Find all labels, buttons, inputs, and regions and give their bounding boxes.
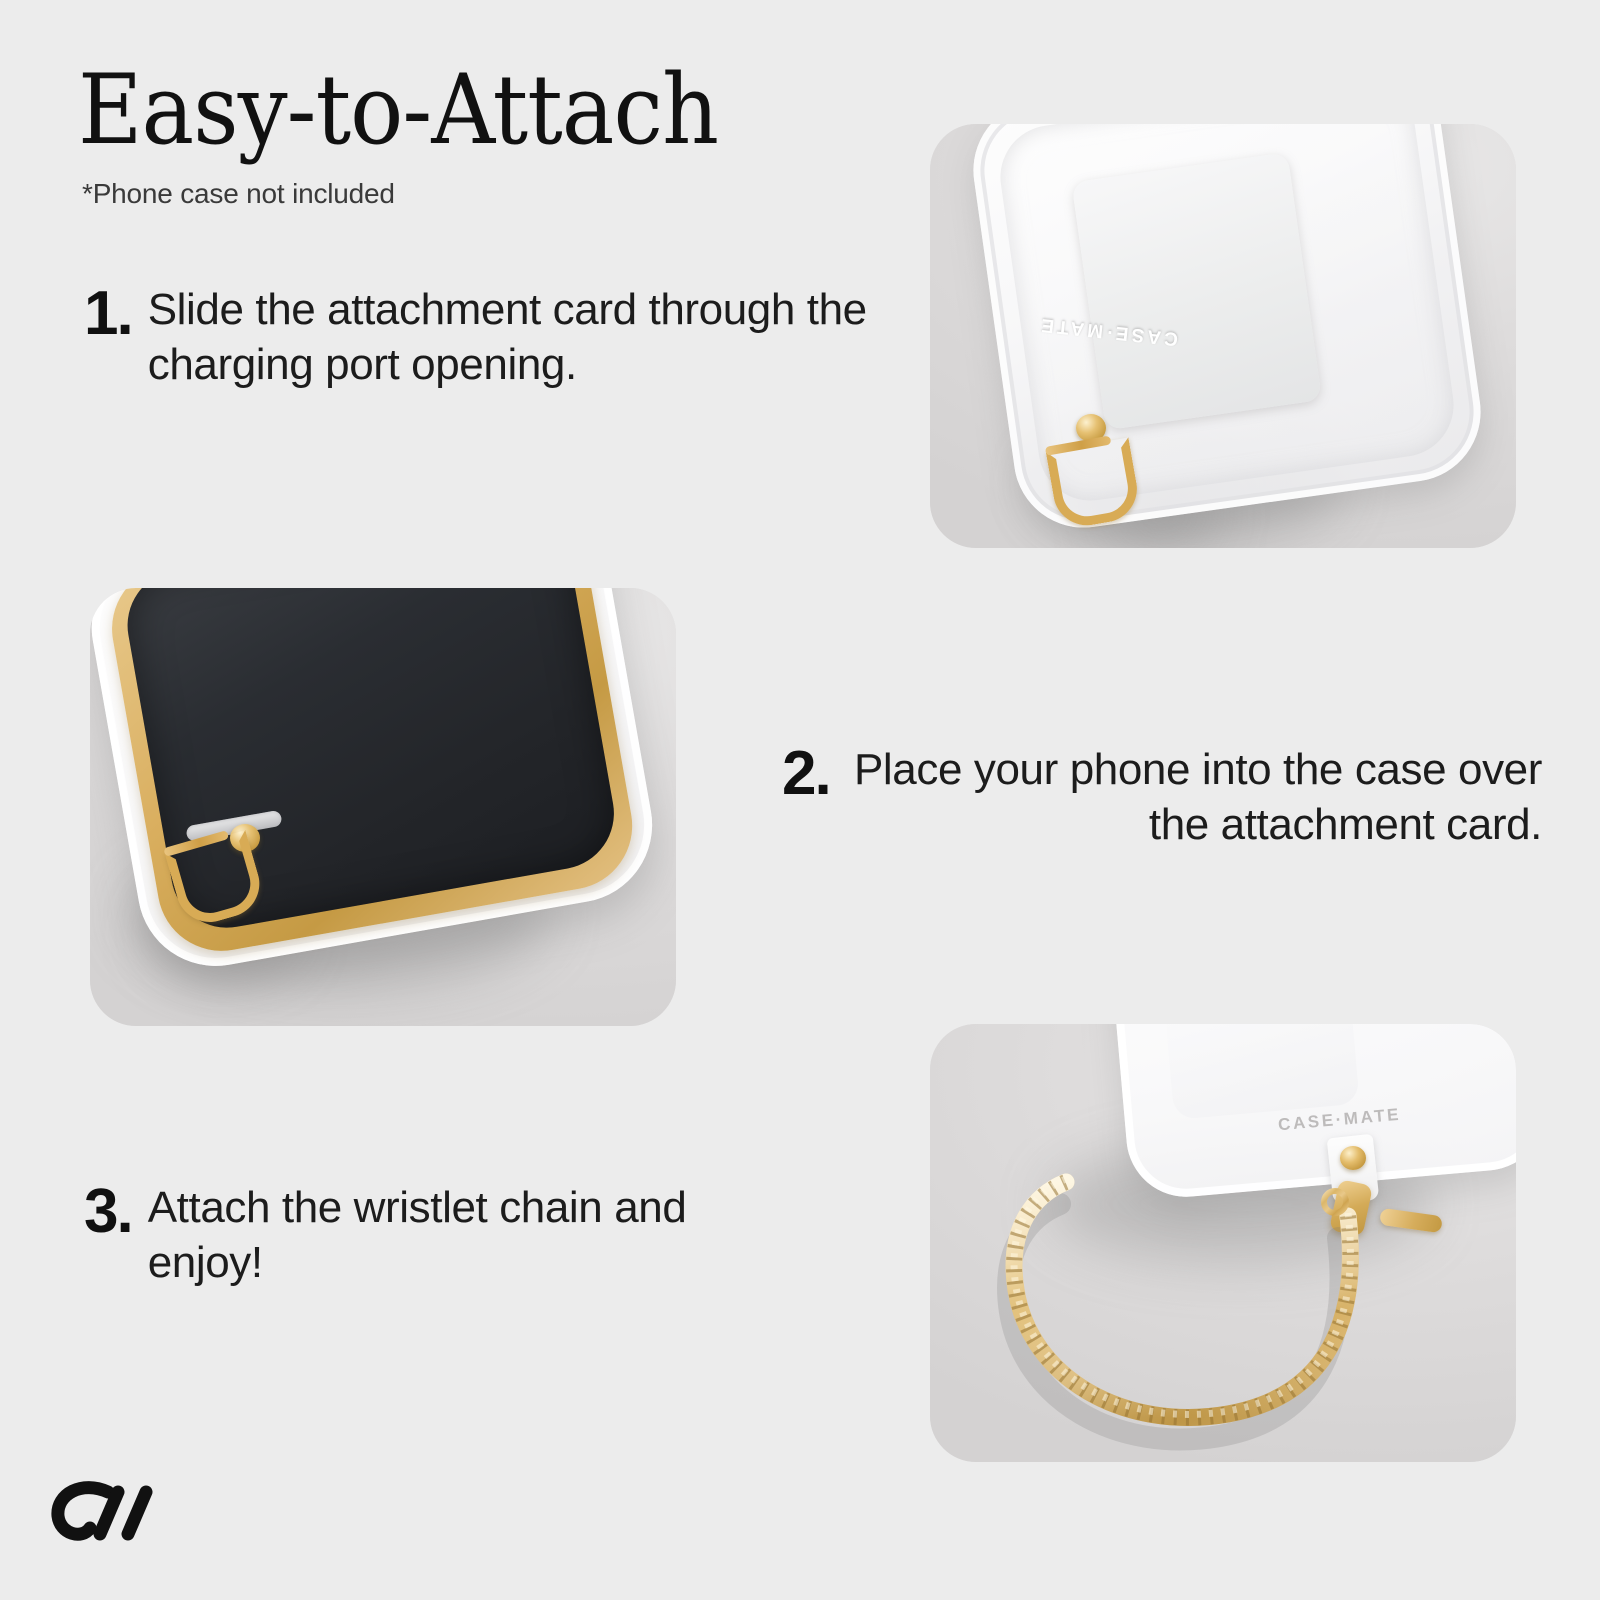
step-text-2: Place your phone into the case over the … [846,742,1542,852]
attachment-card [1071,152,1322,430]
phone-in-case [90,588,676,1026]
step-item-1: 1. Slide the attachment card through the… [84,282,904,392]
case-mate-logo [48,1476,180,1550]
step-item-3: 3. Attach the wristlet chain and enjoy! [84,1180,784,1290]
step-number-2: 2. [782,742,830,805]
page-title: Easy-to-Attach [78,62,718,158]
wristlet-chain-icon [930,1024,1516,1462]
infographic-canvas: Easy-to-Attach *Phone case not included … [0,0,1600,1600]
photo-step-1: CASE·MATE [930,124,1516,548]
step-number-3: 3. [84,1180,132,1243]
step-number-1: 1. [84,282,132,345]
photo-step-3: CASE·MATE [930,1024,1516,1462]
step-text-3: Attach the wristlet chain and enjoy! [148,1180,784,1290]
step-item-2: 2. Place your phone into the case over t… [782,742,1542,852]
photo-step-2 [90,588,676,1026]
step-text-1: Slide the attachment card through the ch… [148,282,904,392]
disclaimer-text: *Phone case not included [82,178,395,210]
